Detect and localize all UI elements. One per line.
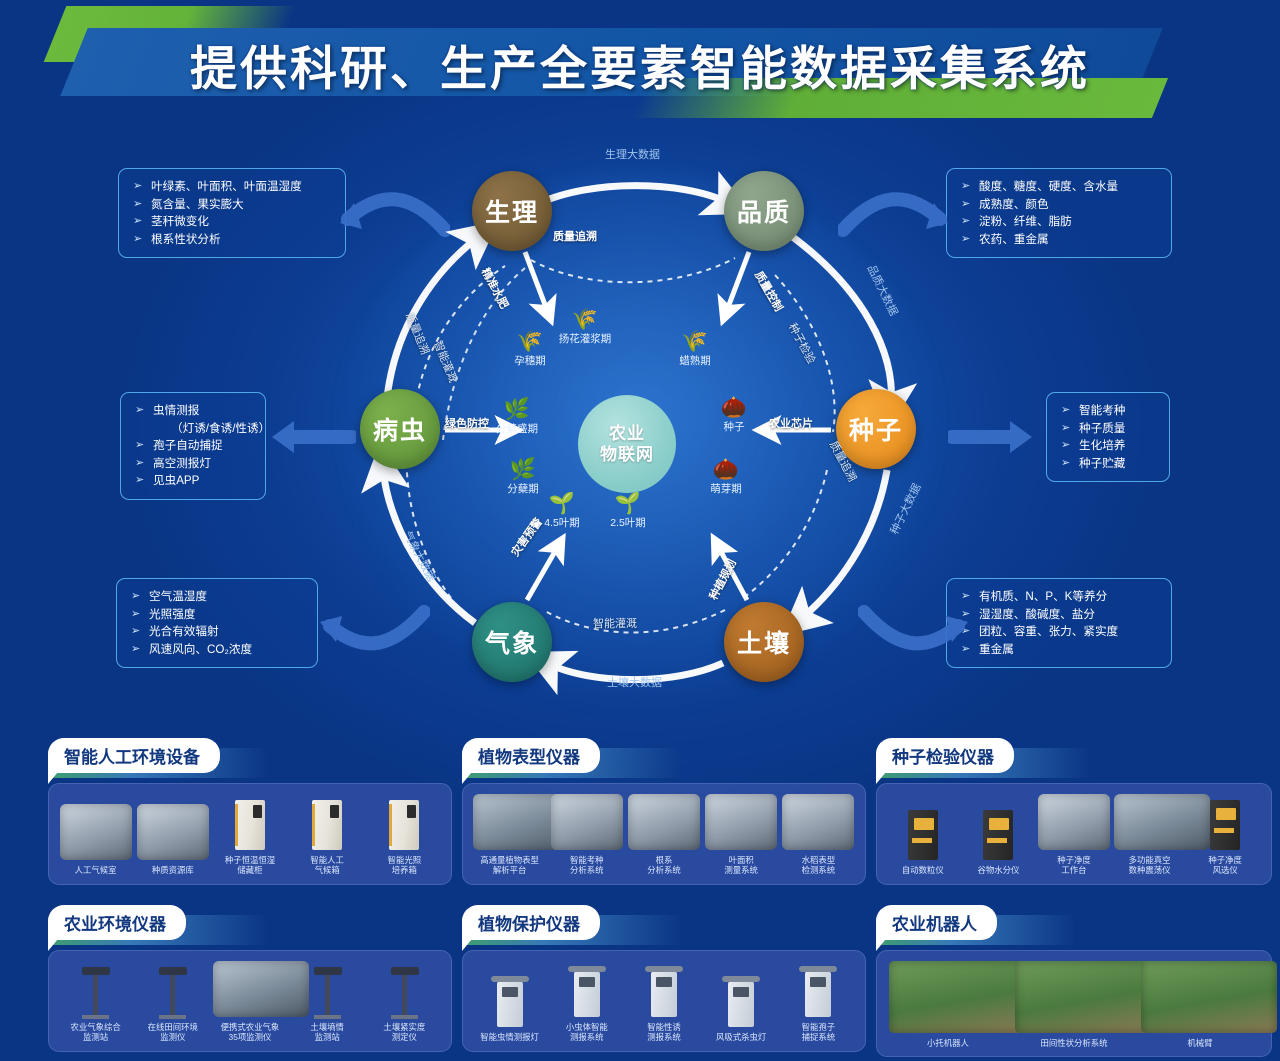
seedling-icon: 🌱 bbox=[527, 492, 597, 515]
product-image bbox=[59, 961, 132, 1017]
list-item: ➢酸度、糖度、硬度、含水量 bbox=[961, 178, 1161, 196]
stage-label: 蜡熟期 bbox=[679, 355, 711, 367]
product-caption: 高通量植物表型 解析平台 bbox=[473, 855, 546, 876]
section-title: 种子检验仪器 bbox=[876, 738, 1014, 773]
product-caption: 土壤紧实度 测定仪 bbox=[368, 1022, 441, 1043]
seedling-icon: 🌱 bbox=[593, 492, 663, 515]
info-box-soil: ➢有机质、N、P、K等养分 ➢湿湿度、酸碱度、盐分 ➢团粒、容重、张力、紧实度 … bbox=[946, 578, 1172, 668]
arrow-bullet-icon: ➢ bbox=[131, 606, 140, 624]
list-item: ➢湿湿度、酸碱度、盐分 bbox=[961, 606, 1161, 624]
section-agri-environment: 农业环境仪器 农业气象综合 监测站 在线田间环境 监测仪 便携式农业气象 35项… bbox=[48, 905, 452, 1052]
product-item[interactable]: 人工气候室 bbox=[59, 804, 132, 875]
arrow-bullet-icon: ➢ bbox=[131, 588, 140, 606]
product-caption: 智能孢子 捕捉系统 bbox=[782, 1022, 855, 1043]
product-item[interactable]: 农业气象综合 监测站 bbox=[59, 961, 132, 1043]
info-box-weather: ➢空气温湿度 ➢光照强度 ➢光合有效辐射 ➢风速风向、CO₂浓度 bbox=[116, 578, 318, 668]
list-item: ➢智能考种 bbox=[1061, 402, 1159, 420]
stage-label: 种子 bbox=[724, 421, 745, 433]
list-item: ➢高空测报灯 bbox=[135, 455, 255, 473]
arrow-bullet-icon: ➢ bbox=[1061, 420, 1070, 438]
stage-label: 分蘖盛期 bbox=[496, 423, 538, 435]
rice-plant-icon: 🌾 bbox=[540, 308, 630, 331]
product-image bbox=[473, 971, 546, 1027]
stage-label: 萌芽期 bbox=[710, 483, 742, 495]
product-image bbox=[705, 794, 777, 850]
section-products: 高通量植物表型 解析平台 智能考种 分析系统 根系 分析系统 叶面积 测量系统 … bbox=[462, 783, 866, 885]
list-item: ➢孢子自动捕捉 bbox=[135, 437, 255, 455]
list-item: ➢氮含量、果实膨大 bbox=[133, 196, 335, 214]
product-item[interactable]: 智能性诱 测报系统 bbox=[627, 961, 700, 1043]
product-image bbox=[1141, 961, 1277, 1033]
product-item[interactable]: 在线田间环境 监测仪 bbox=[136, 961, 209, 1043]
product-item[interactable]: 小虫体智能 测报系统 bbox=[550, 961, 623, 1043]
product-caption: 便携式农业气象 35项监测仪 bbox=[213, 1022, 286, 1043]
product-caption: 根系 分析系统 bbox=[627, 855, 700, 876]
info-box-seed: ➢智能考种 ➢种子质量 ➢生化培养 ➢种子贮藏 bbox=[1046, 392, 1170, 482]
node-label: 气象 bbox=[485, 624, 539, 660]
list-item: ➢叶绿素、叶面积、叶面温湿度 bbox=[133, 178, 335, 196]
outer-label-top: 生理大数据 bbox=[605, 146, 660, 162]
product-image bbox=[368, 794, 441, 850]
stage-label: 孕穗期 bbox=[514, 355, 546, 367]
list-item: ➢空气温湿度 bbox=[131, 588, 307, 606]
list-item: ➢淀粉、纤维、脂肪 bbox=[961, 213, 1161, 231]
product-caption: 机械臂 bbox=[1141, 1038, 1258, 1048]
stage-mengya: 🌰 萌芽期 bbox=[690, 458, 762, 496]
product-item[interactable]: 机械臂 bbox=[1141, 961, 1258, 1048]
arc-label-quality-trace-top: 质量追溯 bbox=[553, 228, 597, 244]
header-banner: 提供科研、生产全要素智能数据采集系统 bbox=[0, 0, 1280, 118]
node-quality[interactable]: 品质 bbox=[724, 171, 804, 251]
product-item[interactable]: 种子恒温恒湿 储藏柜 bbox=[213, 794, 286, 876]
product-item[interactable]: 小托机器人 bbox=[889, 961, 1006, 1048]
list-item: ➢重金属 bbox=[961, 641, 1161, 659]
product-item[interactable]: 便携式农业气象 35项监测仪 bbox=[213, 961, 286, 1043]
section-plant-phenotype: 植物表型仪器 高通量植物表型 解析平台 智能考种 分析系统 根系 分析系统 叶面… bbox=[462, 738, 866, 885]
product-image bbox=[550, 961, 623, 1017]
arc-label-agri-chip: 农业芯片 bbox=[769, 415, 813, 431]
core-label-line2: 物联网 bbox=[600, 444, 654, 465]
list-item: ➢团粒、容重、张力、紧实度 bbox=[961, 623, 1161, 641]
outer-label-bottom: 土壤大数据 bbox=[607, 674, 662, 690]
arrow-bullet-icon: ➢ bbox=[131, 641, 140, 659]
product-image bbox=[136, 961, 209, 1017]
product-caption: 小托机器人 bbox=[889, 1038, 1006, 1048]
section-seed-inspection: 种子检验仪器 自动数粒仪 谷物水分仪 种子净度 工作台 多功能真空 数种震荡仪 … bbox=[876, 738, 1272, 885]
page-title: 提供科研、生产全要素智能数据采集系统 bbox=[0, 30, 1280, 99]
product-image bbox=[1038, 794, 1110, 850]
section-title: 农业环境仪器 bbox=[48, 905, 186, 940]
product-item[interactable]: 水稻表型 检测系统 bbox=[782, 794, 855, 876]
product-caption: 田间性状分析系统 bbox=[1015, 1038, 1132, 1048]
product-item[interactable]: 智能孢子 捕捉系统 bbox=[782, 961, 855, 1043]
product-image bbox=[889, 961, 1025, 1033]
arrow-bullet-icon: ➢ bbox=[133, 196, 142, 214]
arrow-bullet-icon: ➢ bbox=[135, 402, 144, 420]
section-title: 智能人工环境设备 bbox=[48, 738, 220, 773]
product-item[interactable]: 风吸式杀虫灯 bbox=[704, 971, 777, 1042]
product-item[interactable]: 种子净度 风选仪 bbox=[1189, 794, 1261, 876]
product-caption: 叶面积 测量系统 bbox=[704, 855, 777, 876]
arrow-bullet-icon: ➢ bbox=[1061, 437, 1070, 455]
arrow-bullet-icon: ➢ bbox=[135, 472, 144, 490]
stage-fennie: 🌿 分蘖期 bbox=[483, 458, 563, 496]
stage-lashu: 🌾 蜡熟期 bbox=[655, 330, 735, 368]
product-item[interactable]: 叶面积 测量系统 bbox=[704, 794, 777, 876]
stage-label: 4.5叶期 bbox=[544, 517, 580, 529]
product-image bbox=[962, 804, 1034, 860]
connector-arrow-seed bbox=[948, 415, 1034, 459]
list-item: ➢有机质、N、P、K等养分 bbox=[961, 588, 1161, 606]
list-item: ➢农药、重金属 bbox=[961, 231, 1161, 249]
stage-leaf25: 🌱 2.5叶期 bbox=[593, 492, 663, 530]
product-image bbox=[627, 961, 700, 1017]
section-title: 植物保护仪器 bbox=[462, 905, 600, 940]
rice-plant-icon: 🌾 bbox=[490, 330, 570, 353]
product-caption: 智能考种 分析系统 bbox=[550, 855, 623, 876]
list-item: ➢成熟度、颜色 bbox=[961, 196, 1161, 214]
product-caption: 水稻表型 检测系统 bbox=[782, 855, 855, 876]
product-caption: 种质资源库 bbox=[136, 865, 209, 875]
list-item: ➢风速风向、CO₂浓度 bbox=[131, 641, 307, 659]
section-agri-robots: 农业机器人 小托机器人 田间性状分析系统 机械臂 bbox=[876, 905, 1272, 1057]
product-caption: 在线田间环境 监测仪 bbox=[136, 1022, 209, 1043]
product-image bbox=[137, 804, 209, 860]
info-box-quality: ➢酸度、糖度、硬度、含水量 ➢成熟度、颜色 ➢淀粉、纤维、脂肪 ➢农药、重金属 bbox=[946, 168, 1172, 258]
list-item: ➢种子贮藏 bbox=[1061, 455, 1159, 473]
node-physiology[interactable]: 生理 bbox=[472, 171, 552, 251]
arrow-bullet-icon: ➢ bbox=[961, 196, 970, 214]
node-label: 种子 bbox=[849, 411, 903, 447]
product-caption: 智能虫情测报灯 bbox=[473, 1032, 546, 1042]
arrow-bullet-icon: ➢ bbox=[1061, 455, 1070, 473]
list-item: ➢生化培养 bbox=[1061, 437, 1159, 455]
core-label-line1: 农业 bbox=[609, 423, 645, 444]
core-agriculture-iot[interactable]: 农业 物联网 bbox=[578, 395, 676, 493]
info-box-pest: ➢虫情测报（灯诱/食诱/性诱） ➢孢子自动捕捉 ➢高空测报灯 ➢见虫APP bbox=[120, 392, 266, 500]
product-image bbox=[782, 961, 855, 1017]
product-caption: 土壤墒情 监测站 bbox=[290, 1022, 363, 1043]
product-item[interactable]: 种子净度 工作台 bbox=[1038, 794, 1110, 876]
product-image bbox=[1015, 961, 1151, 1033]
product-image bbox=[782, 794, 854, 850]
node-label: 土壤 bbox=[737, 624, 791, 660]
product-image bbox=[551, 794, 623, 850]
section-products: 智能虫情测报灯 小虫体智能 测报系统 智能性诱 测报系统 风吸式杀虫灯 智能孢子… bbox=[462, 950, 866, 1052]
product-caption: 谷物水分仪 bbox=[962, 865, 1034, 875]
section-products: 人工气候室 种质资源库 种子恒温恒湿 储藏柜 智能人工 气候箱 智能光照 培养箱 bbox=[48, 783, 452, 885]
product-caption: 人工气候室 bbox=[59, 865, 132, 875]
arrow-bullet-icon: ➢ bbox=[961, 231, 970, 249]
arc-label-smart-irrigation-bottom: 智能灌溉 bbox=[593, 615, 637, 631]
arrow-bullet-icon: ➢ bbox=[135, 455, 144, 473]
agriculture-iot-diagram: 生理 品质 病虫 种子 气象 土壤 农业 物联网 🌾 扬花灌浆期 🌾 孕穗期 🌾… bbox=[335, 140, 945, 710]
list-item: ➢光照强度 bbox=[131, 606, 307, 624]
product-image bbox=[60, 804, 132, 860]
product-caption: 种子净度 工作台 bbox=[1038, 855, 1110, 876]
info-box-physiology: ➢叶绿素、叶面积、叶面温湿度 ➢氮含量、果实膨大 ➢茎秆微变化 ➢根系性状分析 bbox=[118, 168, 346, 258]
product-item[interactable]: 智能人工 气候箱 bbox=[290, 794, 363, 876]
product-image bbox=[1189, 794, 1261, 850]
arc-label-green-prevention: 绿色防控 bbox=[445, 415, 489, 431]
section-plant-protection: 植物保护仪器 智能虫情测报灯 小虫体智能 测报系统 智能性诱 测报系统 风吸式杀… bbox=[462, 905, 866, 1052]
product-item[interactable]: 土壤紧实度 测定仪 bbox=[368, 961, 441, 1043]
node-pest[interactable]: 病虫 bbox=[360, 389, 440, 469]
node-soil[interactable]: 土壤 bbox=[724, 602, 804, 682]
product-item[interactable]: 种质资源库 bbox=[136, 804, 209, 875]
list-item: ➢种子质量 bbox=[1061, 420, 1159, 438]
product-item[interactable]: 谷物水分仪 bbox=[962, 804, 1034, 875]
product-image bbox=[887, 804, 959, 860]
arrow-bullet-icon: ➢ bbox=[135, 437, 144, 455]
product-item[interactable]: 田间性状分析系统 bbox=[1015, 961, 1132, 1048]
sprout-icon: 🌿 bbox=[483, 458, 563, 481]
arrow-bullet-icon: ➢ bbox=[133, 213, 142, 231]
product-caption: 风吸式杀虫灯 bbox=[704, 1032, 777, 1042]
product-item[interactable]: 土壤墒情 监测站 bbox=[290, 961, 363, 1043]
stage-seed: 🌰 种子 bbox=[703, 396, 765, 434]
product-caption: 智能性诱 测报系统 bbox=[627, 1022, 700, 1043]
section-smart-environment: 智能人工环境设备 人工气候室 种质资源库 种子恒温恒湿 储藏柜 智能人工 气候箱… bbox=[48, 738, 452, 885]
arrow-bullet-icon: ➢ bbox=[133, 178, 142, 196]
product-caption: 自动数粒仪 bbox=[887, 865, 959, 875]
product-item[interactable]: 智能光照 培养箱 bbox=[368, 794, 441, 876]
node-label: 生理 bbox=[485, 193, 539, 229]
stage-label: 2.5叶期 bbox=[610, 517, 646, 529]
arrow-bullet-icon: ➢ bbox=[133, 231, 142, 249]
arrow-bullet-icon: ➢ bbox=[1061, 402, 1070, 420]
product-image bbox=[704, 971, 777, 1027]
node-label: 病虫 bbox=[373, 411, 427, 447]
product-caption: 农业气象综合 监测站 bbox=[59, 1022, 132, 1043]
product-image bbox=[290, 794, 363, 850]
pest-sub-label: （灯诱/食诱/性诱） bbox=[153, 420, 255, 438]
product-item[interactable]: 多功能真空 数种震荡仪 bbox=[1114, 794, 1186, 876]
product-caption: 智能光照 培养箱 bbox=[368, 855, 441, 876]
list-item: ➢根系性状分析 bbox=[133, 231, 335, 249]
product-item[interactable]: 高通量植物表型 解析平台 bbox=[473, 794, 546, 876]
product-caption: 小虫体智能 测报系统 bbox=[550, 1022, 623, 1043]
product-caption: 种子净度 风选仪 bbox=[1189, 855, 1261, 876]
product-caption: 智能人工 气候箱 bbox=[290, 855, 363, 876]
seed-icon: 🌰 bbox=[690, 458, 762, 481]
list-item: ➢见虫APP bbox=[135, 472, 255, 490]
section-products: 农业气象综合 监测站 在线田间环境 监测仪 便携式农业气象 35项监测仪 土壤墒… bbox=[48, 950, 452, 1052]
list-item: ➢光合有效辐射 bbox=[131, 623, 307, 641]
node-label: 品质 bbox=[737, 193, 791, 229]
arrow-bullet-icon: ➢ bbox=[961, 178, 970, 196]
product-item[interactable]: 智能考种 分析系统 bbox=[550, 794, 623, 876]
node-weather[interactable]: 气象 bbox=[472, 602, 552, 682]
arrow-bullet-icon: ➢ bbox=[961, 213, 970, 231]
product-image bbox=[368, 961, 441, 1017]
product-item[interactable]: 自动数粒仪 bbox=[887, 804, 959, 875]
section-title: 农业机器人 bbox=[876, 905, 997, 940]
product-image bbox=[213, 794, 286, 850]
list-item: ➢虫情测报（灯诱/食诱/性诱） bbox=[135, 402, 255, 437]
section-products: 小托机器人 田间性状分析系统 机械臂 bbox=[876, 950, 1272, 1057]
product-image bbox=[290, 961, 363, 1017]
product-item[interactable]: 根系 分析系统 bbox=[627, 794, 700, 876]
product-item[interactable]: 智能虫情测报灯 bbox=[473, 971, 546, 1042]
product-caption: 种子恒温恒湿 储藏柜 bbox=[213, 855, 286, 876]
section-title: 植物表型仪器 bbox=[462, 738, 600, 773]
list-item: ➢茎秆微变化 bbox=[133, 213, 335, 231]
rice-plant-icon: 🌾 bbox=[655, 330, 735, 353]
product-caption: 多功能真空 数种震荡仪 bbox=[1114, 855, 1186, 876]
product-image bbox=[628, 794, 700, 850]
stage-yunsui: 🌾 孕穗期 bbox=[490, 330, 570, 368]
arrow-bullet-icon: ➢ bbox=[131, 623, 140, 641]
section-products: 自动数粒仪 谷物水分仪 种子净度 工作台 多功能真空 数种震荡仪 种子净度 风选… bbox=[876, 783, 1272, 885]
seed-icon: 🌰 bbox=[703, 396, 765, 419]
